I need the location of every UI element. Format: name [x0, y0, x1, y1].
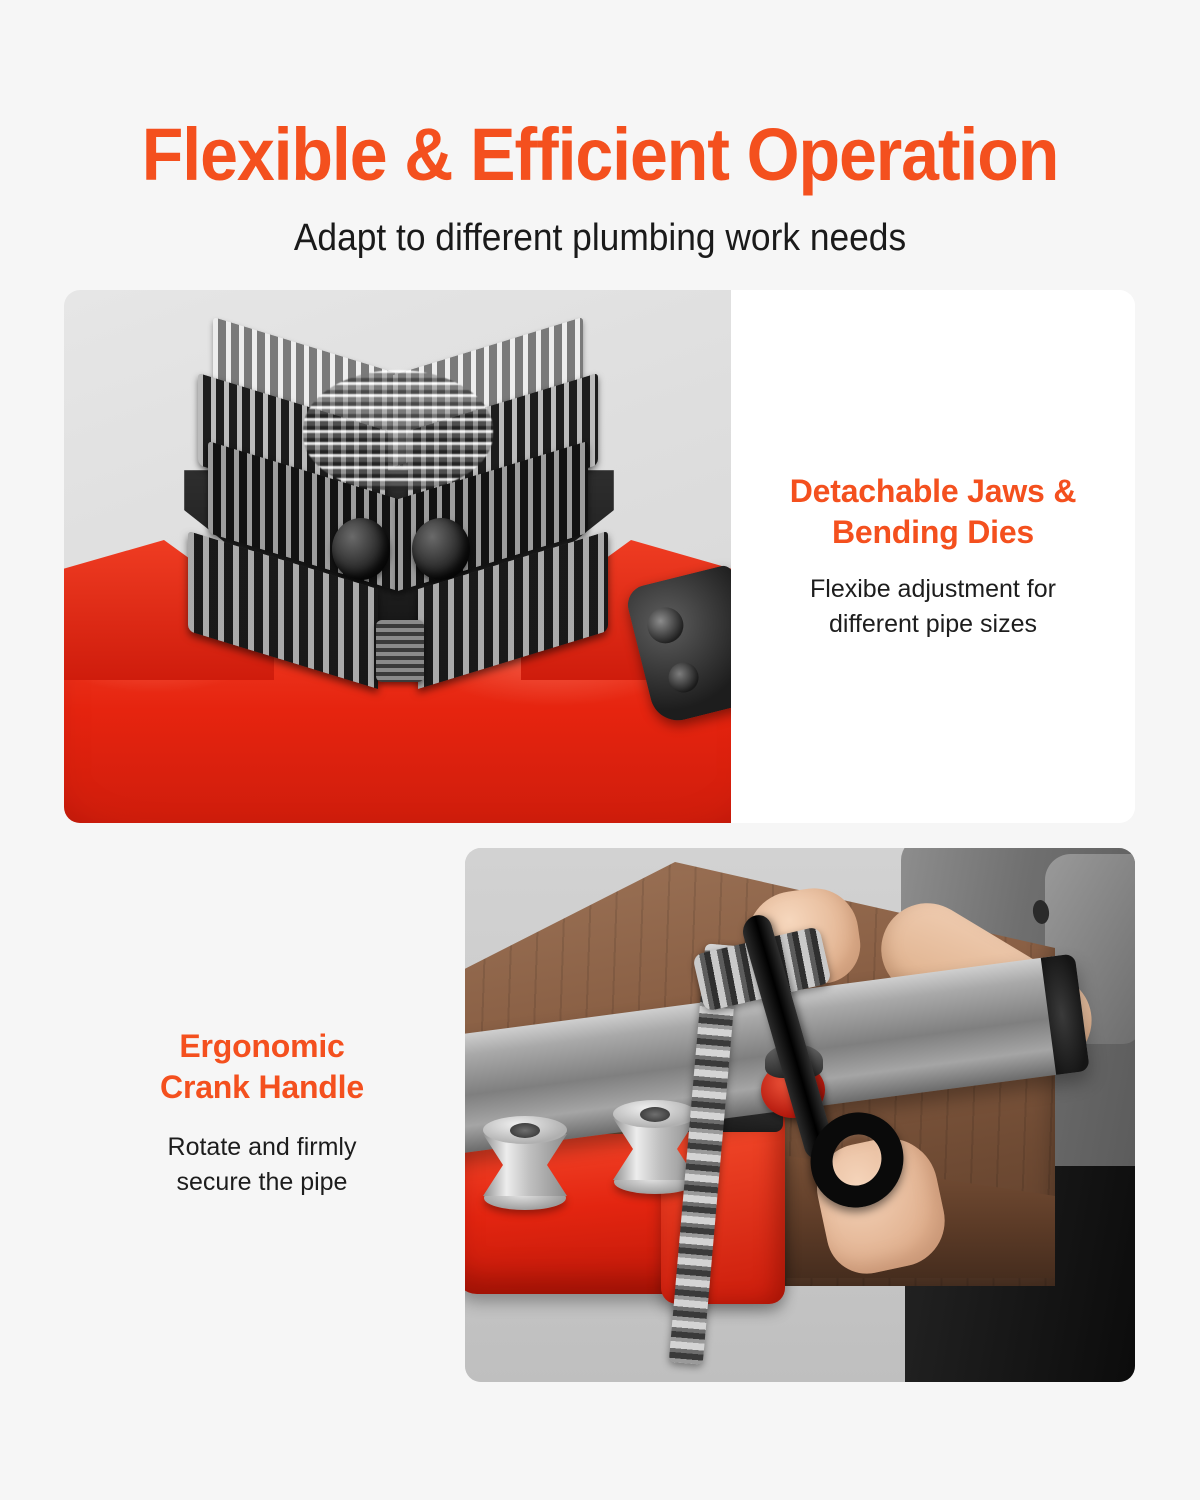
- page-header: Flexible & Efficient Operation Adapt to …: [0, 0, 1200, 262]
- page-title: Flexible & Efficient Operation: [48, 118, 1152, 192]
- feature-photo-detachable-jaws: [64, 290, 731, 823]
- feature-heading-line2: Crank Handle: [160, 1069, 364, 1105]
- feature-body-line1: Rotate and firmly: [168, 1133, 357, 1161]
- feature-card-detachable-jaws: Detachable Jaws & Bending Dies Flexibe a…: [64, 290, 1135, 823]
- feature-heading-detachable-jaws: Detachable Jaws & Bending Dies: [790, 471, 1077, 553]
- feature-card-ergonomic-crank-handle: [465, 848, 1135, 1382]
- feature-heading-ergonomic-crank-handle: Ergonomic Crank Handle: [112, 1026, 412, 1108]
- feature-heading-line1: Detachable Jaws &: [790, 473, 1077, 509]
- feature-body-ergonomic-crank-handle: Rotate and firmly secure the pipe: [112, 1130, 412, 1200]
- feature-text-detachable-jaws: Detachable Jaws & Bending Dies Flexibe a…: [731, 290, 1135, 823]
- page-subtitle: Adapt to different plumbing work needs: [42, 216, 1158, 262]
- feature-body-line2: different pipe sizes: [829, 610, 1037, 638]
- feature-heading-line2: Bending Dies: [832, 514, 1034, 550]
- feature-heading-line1: Ergonomic: [179, 1028, 344, 1064]
- product-feature-page: Flexible & Efficient Operation Adapt to …: [0, 0, 1200, 1500]
- crank-handle-graphic: [755, 912, 905, 1212]
- center-screw-graphic: [376, 620, 424, 682]
- feature-body-line2: secure the pipe: [177, 1168, 348, 1196]
- bending-die-a-graphic: [483, 1116, 567, 1220]
- serrated-jaw-layer-3-graphic: [208, 470, 588, 562]
- feature-body-detachable-jaws: Flexibe adjustment for different pipe si…: [810, 572, 1056, 642]
- feature-body-line1: Flexibe adjustment for: [810, 575, 1056, 603]
- feature-text-ergonomic-crank-handle: Ergonomic Crank Handle Rotate and firmly…: [112, 1026, 412, 1200]
